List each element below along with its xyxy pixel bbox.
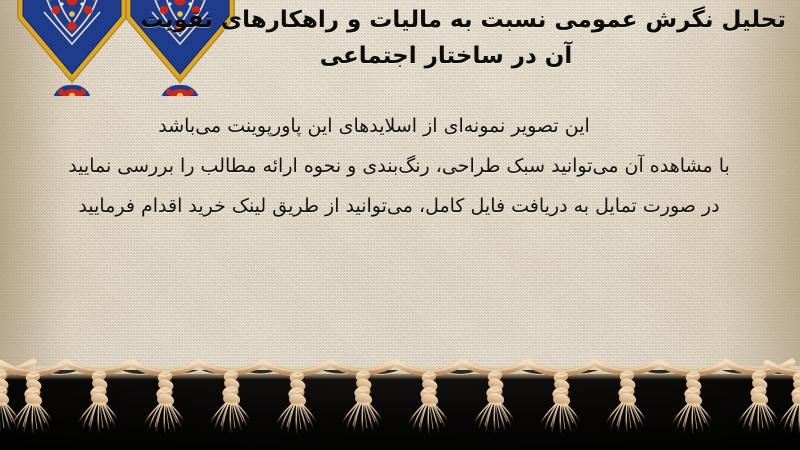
slide-title-line-2: آن در ساختار اجتماعی bbox=[146, 38, 786, 74]
slide-body-text: این تصویر نمونه‌ای از اسلایدهای این پاور… bbox=[0, 106, 800, 226]
body-line-2: با مشاهده آن می‌توانید سبک طراحی، رنگ‌بن… bbox=[0, 146, 800, 186]
body-line-3: در صورت تمایل به دریافت فایل کامل، می‌تو… bbox=[0, 186, 800, 226]
carpet-fringe-tassels bbox=[0, 352, 800, 450]
presentation-slide: تحلیل نگرش عمومی نسبت به مالیات و راهکار… bbox=[0, 0, 800, 450]
body-line-1: این تصویر نمونه‌ای از اسلایدهای این پاور… bbox=[0, 106, 800, 146]
slide-title-line-1: تحلیل نگرش عمومی نسبت به مالیات و راهکار… bbox=[146, 2, 786, 38]
persian-medallion-ornament-left bbox=[14, 0, 130, 100]
slide-title: تحلیل نگرش عمومی نسبت به مالیات و راهکار… bbox=[146, 2, 786, 74]
